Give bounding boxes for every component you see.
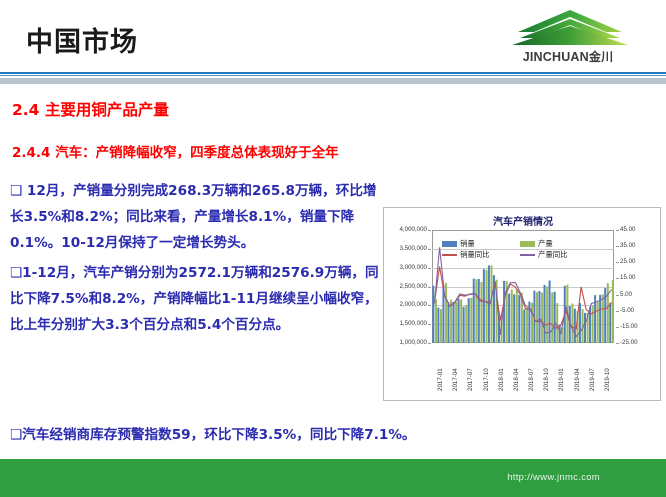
header-divider-thin bbox=[0, 75, 666, 76]
chart-y-tick-right: -15.00 bbox=[620, 323, 638, 330]
chart-x-axis: 2017-012017-042017-072017-102018-012018-… bbox=[432, 345, 614, 397]
chart-y-tickmark-left bbox=[428, 343, 431, 344]
chart-line bbox=[435, 247, 612, 336]
chart-y-tickmark-right bbox=[616, 230, 619, 231]
chart-y-tickmark-right bbox=[616, 278, 619, 279]
chart-legend-item: 销量 bbox=[442, 235, 475, 245]
chart-legend-item: 产量同比 bbox=[520, 246, 568, 256]
chart-y-tick-right: 25.00 bbox=[620, 258, 635, 265]
chart-y-tickmark-left bbox=[428, 287, 431, 288]
logo-wordmark: JINCHUAN金川 bbox=[488, 48, 648, 65]
chart-x-tick-label: 2018-04 bbox=[513, 368, 520, 391]
slide-header: 中国市场 JINCHUAN金川 bbox=[0, 0, 666, 70]
footer-bar: http://www.jnmc.com bbox=[0, 459, 666, 497]
chart-y-tick-right: 15.00 bbox=[620, 274, 635, 281]
chart-card: 汽车产销情况 1,000,0001,500,0002,000,0002,500,… bbox=[383, 207, 661, 401]
chart-y-tick-left: 1,500,000 bbox=[383, 320, 427, 327]
chart-y-tickmark-right bbox=[616, 311, 619, 312]
chart-x-tick-label: 2018-01 bbox=[498, 368, 505, 391]
chart-y-tickmark-right bbox=[616, 343, 619, 344]
chart-x-tick-label: 2017-01 bbox=[437, 368, 444, 391]
mountain-logo-icon bbox=[510, 8, 630, 46]
header-divider-band bbox=[0, 78, 666, 84]
chart-y-tick-left: 4,000,000 bbox=[383, 226, 427, 233]
chart-y-tickmark-right bbox=[616, 262, 619, 263]
chart-x-tick-label: 2017-10 bbox=[483, 368, 490, 391]
chart-x-tick-label: 2019-01 bbox=[558, 368, 565, 391]
logo-wordmark-latin: JINCHUAN bbox=[523, 50, 589, 64]
footer-url: http://www.jnmc.com bbox=[507, 472, 600, 483]
chart-y-tick-left: 2,000,000 bbox=[383, 301, 427, 308]
body-paragraph-1: ❑ 12月，产销量分别完成268.3万辆和265.8万辆，环比增长3.5%和8.… bbox=[10, 178, 382, 256]
chart-legend-item: 产量 bbox=[520, 235, 553, 245]
chart-y-axis-right: -25.00-15.00-5.005.0015.0025.0035.0045.0… bbox=[616, 224, 650, 346]
chart-y-tickmark-left bbox=[428, 324, 431, 325]
chart-y-tick-right: 35.00 bbox=[620, 242, 635, 249]
body-paragraph-3: ❑汽车经销商库存预警指数59，环比下降3.5%，同比下降7.1%。 bbox=[10, 424, 610, 446]
brand-logo: JINCHUAN金川 bbox=[488, 8, 648, 70]
section-heading-level2: 2.4.4 汽车：产销降幅收窄，四季度总体表现好于全年 bbox=[12, 141, 339, 161]
chart-y-tickmark-left bbox=[428, 249, 431, 250]
chart-y-tickmark-right bbox=[616, 295, 619, 296]
chart-x-tick-label: 2018-10 bbox=[543, 368, 550, 391]
chart-y-tick-left: 2,500,000 bbox=[383, 283, 427, 290]
body-copy: ❑ 12月，产销量分别完成268.3万辆和265.8万辆，环比增长3.5%和8.… bbox=[10, 178, 382, 342]
chart-legend-label: 销量同比 bbox=[460, 249, 490, 260]
section-heading-level1: 2.4 主要用铜产品产量 bbox=[12, 98, 169, 120]
header-divider-blue bbox=[0, 72, 666, 74]
chart-legend-label: 产量同比 bbox=[538, 249, 568, 260]
chart-x-tick-label: 2019-07 bbox=[589, 368, 596, 391]
chart-y-tick-right: 45.00 bbox=[620, 226, 635, 233]
chart-x-tick-label: 2017-07 bbox=[467, 368, 474, 391]
logo-wordmark-cjk: 金川 bbox=[589, 50, 613, 64]
chart-y-tick-right: -5.00 bbox=[620, 307, 634, 314]
legend-line-swatch bbox=[520, 254, 535, 256]
chart-y-tick-left: 3,500,000 bbox=[383, 245, 427, 252]
body-paragraph-2: ❑1-12月，汽车产销分别为2572.1万辆和2576.9万辆，同比下降7.5%… bbox=[10, 260, 382, 338]
chart-y-tick-left: 1,000,000 bbox=[383, 339, 427, 346]
chart-y-axis-left: 1,000,0001,500,0002,000,0002,500,0003,00… bbox=[384, 224, 430, 346]
chart-x-tick-label: 2017-04 bbox=[452, 368, 459, 391]
page-title: 中国市场 bbox=[26, 20, 138, 59]
chart-y-tick-right: 5.00 bbox=[620, 291, 632, 298]
chart-y-tick-right: -25.00 bbox=[620, 339, 638, 346]
chart-x-tick-label: 2019-04 bbox=[574, 368, 581, 391]
chart-y-tick-left: 3,000,000 bbox=[383, 264, 427, 271]
chart-y-tickmark-left bbox=[428, 230, 431, 231]
chart-y-tickmark-left bbox=[428, 268, 431, 269]
legend-line-swatch bbox=[442, 254, 457, 256]
chart-y-tickmark-right bbox=[616, 246, 619, 247]
chart-x-tick-label: 2018-07 bbox=[528, 368, 535, 391]
chart-legend-item: 销量同比 bbox=[442, 246, 490, 256]
chart-x-tick-label: 2019-10 bbox=[604, 368, 611, 391]
chart-y-tickmark-left bbox=[428, 305, 431, 306]
chart-legend: 销量产量销量同比产量同比 bbox=[442, 235, 612, 257]
chart-y-tickmark-right bbox=[616, 327, 619, 328]
